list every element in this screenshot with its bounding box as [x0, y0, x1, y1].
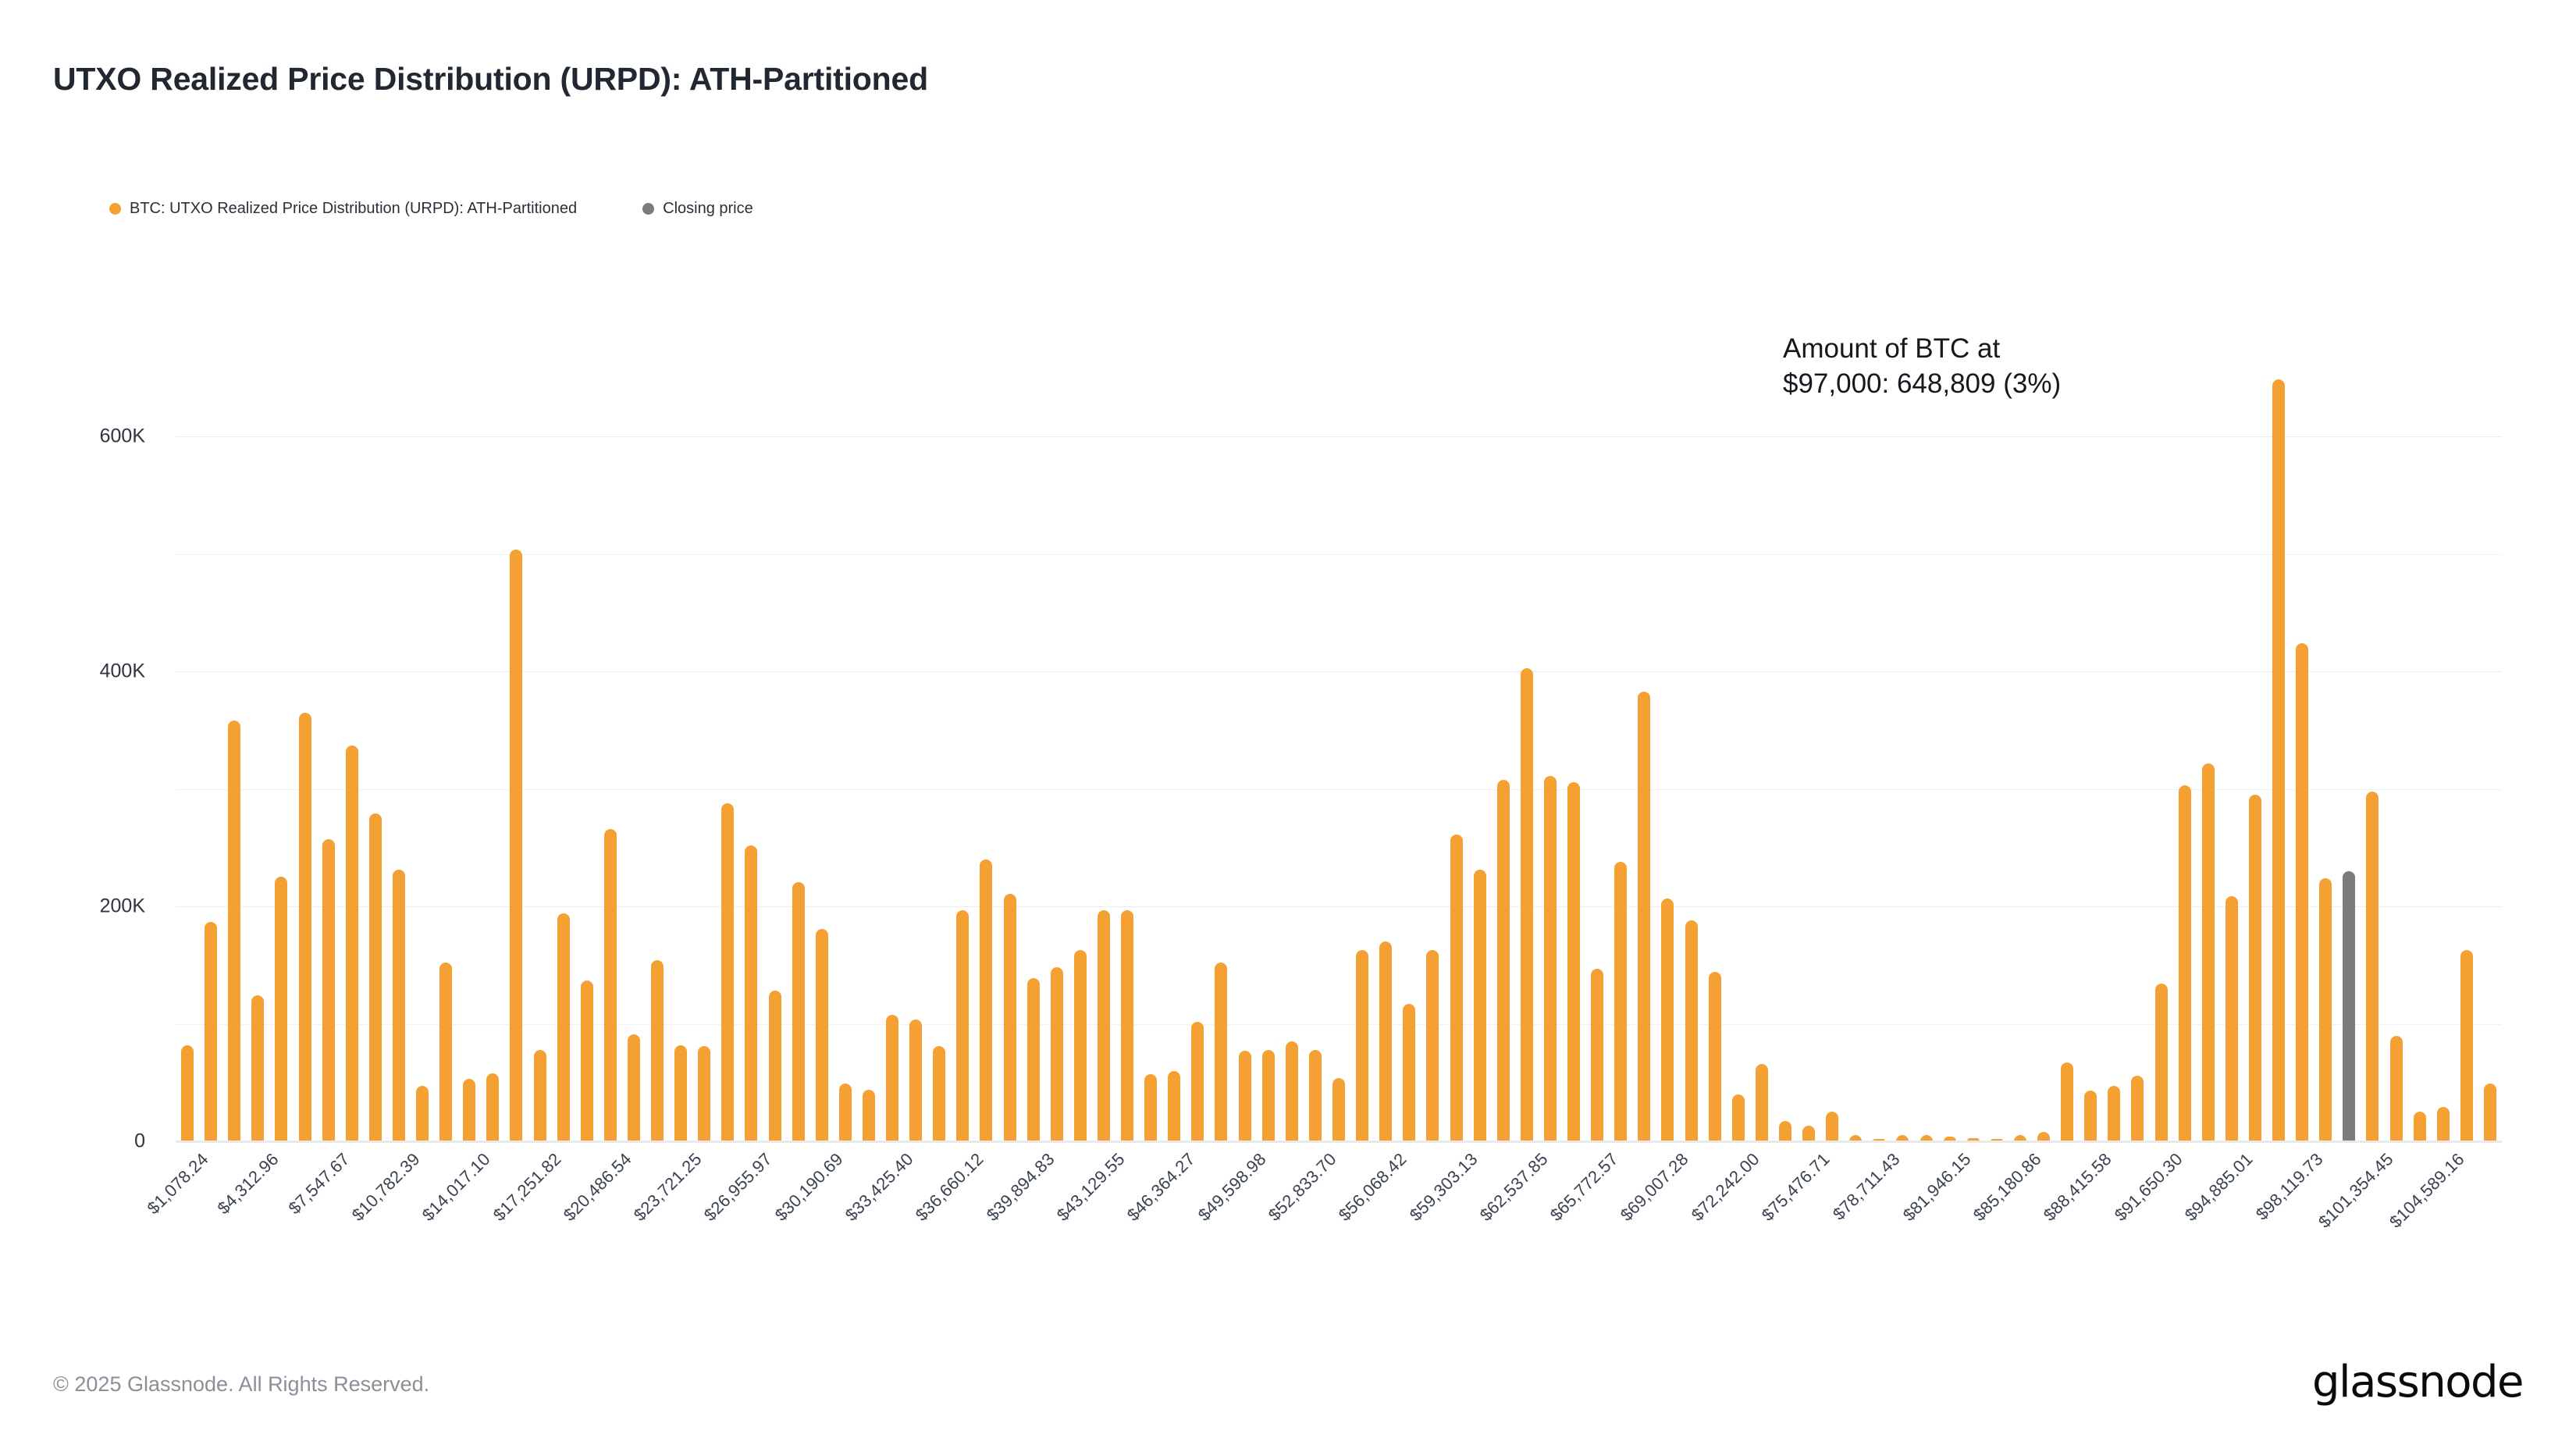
x-axis-line — [176, 1141, 2502, 1143]
bar[interactable] — [486, 1073, 499, 1141]
bar[interactable] — [2414, 1112, 2426, 1141]
chart-legend: BTC: UTXO Realized Price Distribution (U… — [109, 200, 753, 218]
bar[interactable] — [980, 859, 992, 1141]
x-axis-tick-label: $36,660.12 — [912, 1149, 988, 1226]
closing-price-bar[interactable] — [2343, 871, 2355, 1141]
bar[interactable] — [1685, 920, 1698, 1141]
bar[interactable] — [745, 845, 757, 1141]
bar[interactable] — [2226, 896, 2238, 1141]
bar[interactable] — [839, 1084, 852, 1141]
bar[interactable] — [2061, 1062, 2073, 1141]
bar[interactable] — [1051, 967, 1063, 1141]
bar[interactable] — [205, 922, 217, 1141]
bar[interactable] — [1356, 950, 1368, 1141]
bar[interactable] — [393, 870, 405, 1141]
bar[interactable] — [1168, 1071, 1180, 1141]
legend-dot-icon — [642, 203, 654, 215]
bar[interactable] — [886, 1015, 898, 1141]
bar[interactable] — [228, 721, 240, 1141]
bar[interactable] — [628, 1034, 640, 1141]
bar[interactable] — [346, 746, 358, 1141]
bar[interactable] — [933, 1046, 945, 1141]
bar[interactable] — [2179, 785, 2191, 1141]
bar[interactable] — [2249, 795, 2261, 1141]
legend-item-urpd[interactable]: BTC: UTXO Realized Price Distribution (U… — [109, 200, 577, 218]
x-axis-tick-label: $65,772.57 — [1546, 1149, 1623, 1226]
bar[interactable] — [1239, 1051, 1251, 1141]
bar[interactable] — [1732, 1094, 1745, 1141]
legend-label: Closing price — [663, 200, 753, 218]
bar[interactable] — [956, 910, 969, 1141]
x-axis-tick-label: $10,782.39 — [348, 1149, 425, 1226]
x-axis-tick-label: $78,711.43 — [1829, 1149, 1905, 1225]
x-axis-tick-label: $33,425.40 — [841, 1149, 918, 1226]
bar[interactable] — [2366, 792, 2379, 1141]
bar[interactable] — [1309, 1050, 1322, 1141]
bar[interactable] — [1191, 1022, 1204, 1141]
bar[interactable] — [1450, 835, 1463, 1141]
bar[interactable] — [581, 980, 593, 1141]
bar[interactable] — [1262, 1050, 1275, 1141]
x-axis-tick-label: $62,537.85 — [1476, 1149, 1553, 1226]
x-axis-tick-label: $85,180.86 — [1969, 1149, 2046, 1226]
bar[interactable] — [1638, 692, 1650, 1141]
bar[interactable] — [1591, 969, 1603, 1141]
bar[interactable] — [2202, 763, 2215, 1141]
bar[interactable] — [322, 839, 335, 1141]
x-axis-tick-label: $52,833.70 — [1265, 1149, 1341, 1226]
bar[interactable] — [604, 829, 617, 1141]
y-axis-tick-label: 600K — [100, 425, 145, 448]
bar[interactable] — [1286, 1041, 1298, 1141]
bar[interactable] — [510, 550, 522, 1141]
bar[interactable] — [2319, 878, 2332, 1141]
y-axis-labels: 0200K400K600K — [0, 366, 164, 1141]
x-axis-tick-label: $101,354.45 — [2314, 1149, 2397, 1232]
x-axis-tick-label: $39,894.83 — [982, 1149, 1059, 1226]
x-axis-tick-label: $94,885.01 — [2181, 1149, 2258, 1226]
bar[interactable] — [1403, 1004, 1415, 1141]
x-axis-tick-label: $56,068.42 — [1335, 1149, 1411, 1226]
bar[interactable] — [181, 1045, 194, 1141]
bar[interactable] — [1332, 1078, 1345, 1141]
bar[interactable] — [2437, 1107, 2450, 1141]
bar[interactable] — [2108, 1086, 2120, 1141]
chart-plot-area[interactable] — [176, 366, 2502, 1141]
bar[interactable] — [275, 877, 287, 1141]
bar[interactable] — [2460, 950, 2473, 1141]
page-title: UTXO Realized Price Distribution (URPD):… — [53, 61, 928, 98]
bar[interactable] — [1144, 1074, 1157, 1141]
bar[interactable] — [2272, 379, 2285, 1141]
legend-item-closing-price[interactable]: Closing price — [642, 200, 753, 218]
bar[interactable] — [698, 1046, 710, 1141]
glassnode-logo: glassnode — [2312, 1357, 2523, 1408]
bar[interactable] — [1826, 1112, 1838, 1141]
bar[interactable] — [816, 929, 828, 1141]
bar[interactable] — [1661, 899, 1674, 1141]
bar[interactable] — [1521, 668, 1533, 1141]
x-axis-tick-label: $72,242.00 — [1687, 1149, 1763, 1226]
bar[interactable] — [2084, 1091, 2097, 1141]
bar[interactable] — [534, 1050, 546, 1141]
x-axis-tick-label: $14,017.10 — [418, 1149, 495, 1226]
x-axis-labels: $1,078.24$4,312.96$7,547.67$10,782.39$14… — [176, 1149, 2502, 1352]
bar[interactable] — [2131, 1076, 2144, 1141]
bar[interactable] — [1779, 1121, 1791, 1141]
bar[interactable] — [1474, 870, 1486, 1141]
footer-copyright: © 2025 Glassnode. All Rights Reserved. — [53, 1372, 429, 1397]
bar[interactable] — [1027, 978, 1040, 1141]
x-axis-tick-label: $75,476.71 — [1758, 1149, 1834, 1226]
bar[interactable] — [1709, 972, 1721, 1141]
bar[interactable] — [1121, 910, 1133, 1141]
legend-dot-icon — [109, 203, 121, 215]
bar[interactable] — [909, 1020, 922, 1141]
x-axis-tick-label: $59,303.13 — [1405, 1149, 1482, 1226]
x-axis-tick-label: $17,251.82 — [489, 1149, 565, 1226]
bar[interactable] — [369, 813, 382, 1141]
bar[interactable] — [651, 960, 664, 1141]
y-axis-tick-label: 200K — [100, 895, 145, 918]
bar[interactable] — [674, 1045, 687, 1141]
x-axis-tick-label: $49,598.98 — [1194, 1149, 1270, 1226]
bar-series[interactable] — [176, 366, 2502, 1141]
x-axis-tick-label: $46,364.27 — [1123, 1149, 1200, 1226]
bar[interactable] — [1614, 862, 1627, 1141]
bar[interactable] — [299, 713, 311, 1141]
x-axis-tick-label: $23,721.25 — [630, 1149, 706, 1226]
bar[interactable] — [557, 913, 570, 1141]
x-axis-tick-label: $81,946.15 — [1898, 1149, 1975, 1226]
x-axis-tick-label: $88,415.58 — [2040, 1149, 2116, 1226]
bar[interactable] — [792, 882, 805, 1142]
bar[interactable] — [2390, 1036, 2403, 1141]
bar[interactable] — [1215, 963, 1227, 1141]
bar[interactable] — [1497, 780, 1510, 1141]
bar[interactable] — [416, 1086, 429, 1141]
bar[interactable] — [1074, 950, 1087, 1141]
chart-annotation: Amount of BTC at $97,000: 648,809 (3%) — [1783, 332, 2061, 402]
bar[interactable] — [1004, 894, 1016, 1141]
x-axis-tick-label: $30,190.69 — [770, 1149, 847, 1226]
bar[interactable] — [251, 995, 264, 1141]
y-axis-tick-label: 400K — [100, 660, 145, 683]
legend-label: BTC: UTXO Realized Price Distribution (U… — [130, 200, 577, 218]
x-axis-tick-label: $43,129.55 — [1053, 1149, 1130, 1226]
y-axis-tick-label: 0 — [134, 1130, 145, 1153]
x-axis-tick-label: $98,119.73 — [2252, 1149, 2328, 1225]
bar[interactable] — [1379, 941, 1392, 1141]
bar[interactable] — [721, 803, 734, 1141]
bar[interactable] — [439, 963, 452, 1141]
bar[interactable] — [769, 991, 781, 1141]
bar[interactable] — [1756, 1064, 1768, 1141]
x-axis-tick-label: $20,486.54 — [560, 1149, 636, 1226]
x-axis-tick-label: $91,650.30 — [2110, 1149, 2186, 1226]
bar[interactable] — [2155, 984, 2168, 1141]
x-axis-tick-label: $7,547.67 — [284, 1149, 354, 1219]
bar[interactable] — [1426, 950, 1439, 1141]
bar[interactable] — [863, 1090, 875, 1141]
x-axis-tick-label: $69,007.28 — [1617, 1149, 1693, 1226]
x-axis-tick-label: $104,589.16 — [2386, 1149, 2468, 1232]
bar[interactable] — [2484, 1084, 2496, 1141]
x-axis-tick-label: $1,078.24 — [144, 1149, 213, 1219]
bar[interactable] — [1098, 910, 1110, 1141]
x-axis-tick-label: $26,955.97 — [700, 1149, 777, 1226]
bar[interactable] — [2296, 643, 2308, 1141]
x-axis-tick-label: $4,312.96 — [214, 1149, 283, 1219]
bar[interactable] — [463, 1079, 475, 1141]
bar[interactable] — [1567, 782, 1580, 1141]
bar[interactable] — [1544, 776, 1557, 1141]
bar[interactable] — [1802, 1126, 1815, 1141]
